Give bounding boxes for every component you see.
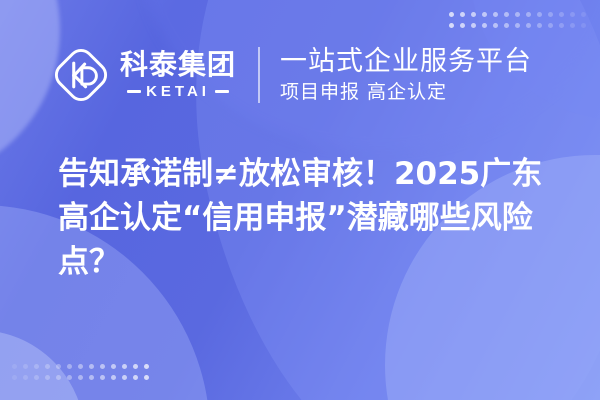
- dot-pattern-dot: [504, 12, 509, 17]
- dot-pattern-dot: [581, 23, 586, 28]
- brand-name-en-row: KETAI: [127, 84, 229, 99]
- dot-pattern-dot: [89, 375, 94, 380]
- tagline-block: 一站式企业服务平台 项目申报 高企认定: [280, 47, 532, 103]
- brand-wordmark: 科泰集团 KETAI: [120, 51, 236, 99]
- dot-pattern-dot: [526, 23, 531, 28]
- dot-pattern-dot: [548, 12, 553, 17]
- dot-pattern-dot: [56, 364, 61, 369]
- dot-pattern-dot: [45, 364, 50, 369]
- ketai-diamond-monogram-logo-icon: [52, 46, 110, 104]
- dot-pattern-dot: [515, 12, 520, 17]
- dot-pattern-dot: [526, 12, 531, 17]
- dot-pattern-dot: [537, 23, 542, 28]
- dot-pattern-dot: [34, 364, 39, 369]
- dot-pattern-dot: [45, 375, 50, 380]
- dot-pattern-dot: [504, 23, 509, 28]
- dot-pattern-dot: [23, 364, 28, 369]
- dot-pattern-dot: [449, 12, 454, 17]
- dot-pattern-dot: [570, 23, 575, 28]
- dot-pattern-dot: [460, 23, 465, 28]
- promo-banner: 科泰集团 KETAI 一站式企业服务平台 项目申报 高企认定 告知承诺制≠放松审…: [0, 0, 600, 400]
- tagline-primary: 一站式企业服务平台: [280, 47, 532, 77]
- dot-pattern-dot: [67, 375, 72, 380]
- dot-pattern-dot: [559, 12, 564, 17]
- dot-pattern-dot: [100, 375, 105, 380]
- dot-pattern-row: [449, 12, 586, 17]
- dot-pattern-dot: [471, 12, 476, 17]
- dot-pattern-dot: [12, 375, 17, 380]
- dot-pattern-dot: [144, 375, 149, 380]
- dot-pattern-dot: [493, 23, 498, 28]
- dot-pattern-top-right: [449, 12, 586, 28]
- dot-pattern-dot: [537, 12, 542, 17]
- dot-pattern-dot: [548, 23, 553, 28]
- headline-title: 告知承诺制≠放松审核！2025广东高企认定“信用申报”潜藏哪些风险点？: [58, 152, 568, 284]
- dot-pattern-dot: [122, 375, 127, 380]
- dot-pattern-bottom-left: [12, 364, 149, 380]
- dot-pattern-dot: [122, 364, 127, 369]
- dot-pattern-dot: [78, 375, 83, 380]
- header-vertical-divider: [258, 47, 260, 103]
- dot-pattern-dot: [449, 23, 454, 28]
- banner-header: 科泰集团 KETAI 一站式企业服务平台 项目申报 高企认定: [52, 46, 532, 104]
- dot-pattern-dot: [493, 12, 498, 17]
- brand-name-en: KETAI: [146, 84, 210, 99]
- dot-pattern-dot: [100, 364, 105, 369]
- dot-pattern-dot: [111, 364, 116, 369]
- dot-pattern-dot: [460, 12, 465, 17]
- dot-pattern-dot: [23, 375, 28, 380]
- dot-pattern-dot: [471, 23, 476, 28]
- wordmark-dash-right-icon: [215, 90, 229, 93]
- dot-pattern-dot: [570, 12, 575, 17]
- dot-pattern-dot: [482, 12, 487, 17]
- dot-pattern-dot: [78, 364, 83, 369]
- decor-top-left-circle: [0, 0, 60, 180]
- dot-pattern-row: [12, 364, 149, 369]
- dot-pattern-dot: [67, 364, 72, 369]
- dot-pattern-row: [12, 375, 149, 380]
- dot-pattern-dot: [56, 375, 61, 380]
- brand-name-cn: 科泰集团: [120, 51, 236, 79]
- dot-pattern-dot: [581, 12, 586, 17]
- dot-pattern-dot: [133, 364, 138, 369]
- wordmark-dash-left-icon: [127, 90, 141, 93]
- dot-pattern-dot: [111, 375, 116, 380]
- dot-pattern-dot: [144, 364, 149, 369]
- dot-pattern-dot: [482, 23, 487, 28]
- dot-pattern-dot: [12, 364, 17, 369]
- dot-pattern-dot: [89, 364, 94, 369]
- tagline-secondary: 项目申报 高企认定: [280, 82, 532, 103]
- dot-pattern-dot: [133, 375, 138, 380]
- dot-pattern-dot: [559, 23, 564, 28]
- brand-logo[interactable]: 科泰集团 KETAI: [52, 46, 236, 104]
- dot-pattern-dot: [515, 23, 520, 28]
- dot-pattern-dot: [34, 375, 39, 380]
- dot-pattern-row: [449, 23, 586, 28]
